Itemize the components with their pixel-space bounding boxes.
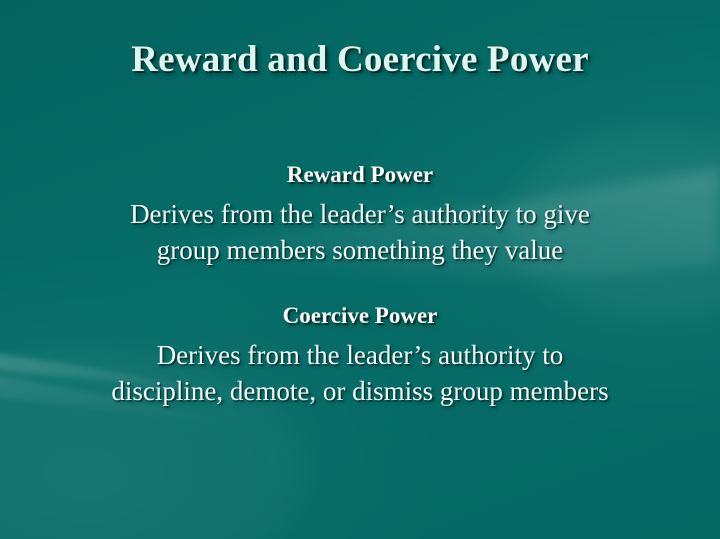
presentation-slide: Reward and Coercive Power Reward Power D… <box>0 0 720 539</box>
slide-title: Reward and Coercive Power <box>131 38 588 81</box>
body-line: Derives from the leader’s authority to <box>157 338 564 374</box>
body-line: Derives from the leader’s authority to g… <box>130 197 590 233</box>
section-body-coercive-power: Derives from the leader’s authority to d… <box>111 338 608 410</box>
section-body-reward-power: Derives from the leader’s authority to g… <box>130 197 590 269</box>
section-coercive-power: Coercive Power Derives from the leader’s… <box>60 303 660 410</box>
slide-body: Reward Power Derives from the leader’s a… <box>60 162 660 410</box>
slide-content: Reward and Coercive Power Reward Power D… <box>0 0 720 539</box>
body-line: discipline, demote, or dismiss group mem… <box>111 374 608 410</box>
section-heading-reward-power: Reward Power <box>287 162 433 188</box>
section-reward-power: Reward Power Derives from the leader’s a… <box>60 162 660 269</box>
section-heading-coercive-power: Coercive Power <box>283 303 438 329</box>
body-line: group members something they value <box>157 233 563 269</box>
